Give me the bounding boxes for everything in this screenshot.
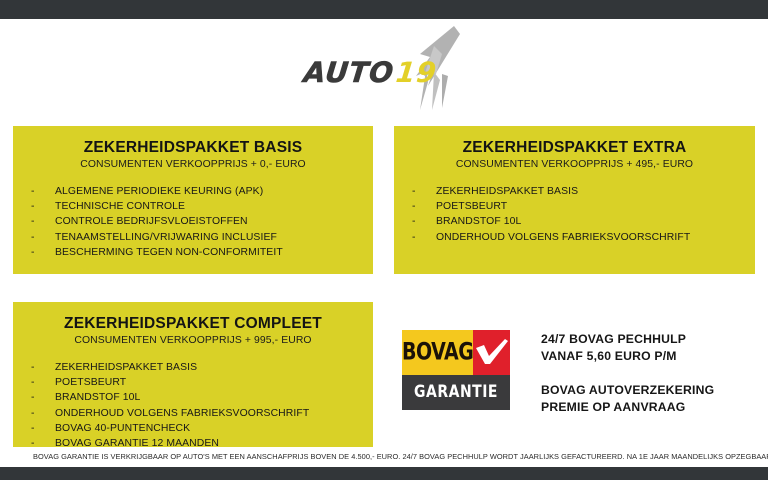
list-item: -ZEKERHEIDSPAKKET BASIS bbox=[412, 184, 755, 199]
brand-logo[interactable]: AUTO19 bbox=[304, 24, 464, 110]
checkmark-icon bbox=[475, 339, 509, 365]
list-item: -ZEKERHEIDSPAKKET BASIS bbox=[31, 360, 373, 375]
list-item: -BOVAG 40-PUNTENCHECK bbox=[31, 421, 373, 436]
bovag-subtitle-block: GARANTIE bbox=[402, 375, 510, 410]
list-item: -ONDERHOUD VOLGENS FABRIEKSVOORSCHRIFT bbox=[31, 406, 373, 421]
package-feature-list: -ZEKERHEIDSPAKKET BASIS -POETSBEURT -BRA… bbox=[13, 360, 373, 451]
bovag-logo-inner: BOVAG GARANTIE bbox=[402, 330, 510, 410]
list-item: -POETSBEURT bbox=[412, 199, 755, 214]
services-text-block: 24/7 BOVAG PECHHULP VANAF 5,60 EURO P/M … bbox=[541, 331, 756, 416]
list-item-label: ZEKERHEIDSPAKKET BASIS bbox=[436, 186, 578, 197]
bullet-dash: - bbox=[31, 214, 35, 229]
header: AUTO19 bbox=[0, 19, 768, 114]
package-feature-list: -ALGEMENE PERIODIEKE KEURING (APK) -TECH… bbox=[13, 184, 373, 260]
list-item-label: TENAAMSTELLING/VRIJWARING INCLUSIEF bbox=[55, 232, 277, 243]
bullet-dash: - bbox=[412, 230, 416, 245]
verzekering-line-2: PREMIE OP AANVRAAG bbox=[541, 399, 756, 416]
pechhulp-line-2: VANAF 5,60 EURO P/M bbox=[541, 348, 756, 365]
list-item-label: POETSBEURT bbox=[436, 201, 507, 212]
package-price: CONSUMENTEN VERKOOPPRIJS + 0,- EURO bbox=[13, 159, 373, 170]
list-item-label: BRANDSTOF 10L bbox=[436, 216, 521, 227]
list-item-label: POETSBEURT bbox=[55, 377, 126, 388]
list-item-label: BRANDSTOF 10L bbox=[55, 392, 140, 403]
list-item: -ONDERHOUD VOLGENS FABRIEKSVOORSCHRIFT bbox=[412, 230, 755, 245]
bovag-garantie-logo: BOVAG GARANTIE bbox=[399, 327, 513, 413]
list-item: -BOVAG GARANTIE 12 MAANDEN bbox=[31, 436, 373, 451]
bovag-name-block: BOVAG bbox=[402, 330, 473, 375]
bottom-letterbox-bar bbox=[0, 467, 768, 480]
list-item: -CONTROLE BEDRIJFSVLOEISTOFFEN bbox=[31, 214, 373, 229]
list-item-label: BOVAG 40-PUNTENCHECK bbox=[55, 423, 190, 434]
package-card-extra: ZEKERHEIDSPAKKET EXTRA CONSUMENTEN VERKO… bbox=[394, 126, 755, 274]
bullet-dash: - bbox=[412, 214, 416, 229]
list-item: -BESCHERMING TEGEN NON-CONFORMITEIT bbox=[31, 245, 373, 260]
pechhulp-line-1: 24/7 BOVAG PECHHULP bbox=[541, 331, 756, 348]
services-spacer bbox=[541, 365, 756, 382]
package-title: ZEKERHEIDSPAKKET BASIS bbox=[13, 139, 373, 157]
bovag-logo-top-row: BOVAG bbox=[402, 330, 510, 375]
bovag-subtitle-text: GARANTIE bbox=[414, 383, 498, 402]
bullet-dash: - bbox=[31, 406, 35, 421]
bullet-dash: - bbox=[31, 436, 35, 451]
package-card-basis: ZEKERHEIDSPAKKET BASIS CONSUMENTEN VERKO… bbox=[13, 126, 373, 274]
package-feature-list: -ZEKERHEIDSPAKKET BASIS -POETSBEURT -BRA… bbox=[394, 184, 755, 245]
bovag-check-block bbox=[473, 330, 510, 375]
bullet-dash: - bbox=[31, 360, 35, 375]
list-item-label: CONTROLE BEDRIJFSVLOEISTOFFEN bbox=[55, 216, 248, 227]
top-letterbox-bar bbox=[0, 0, 768, 19]
bullet-dash: - bbox=[31, 390, 35, 405]
bullet-dash: - bbox=[31, 375, 35, 390]
bullet-dash: - bbox=[31, 184, 35, 199]
package-title: ZEKERHEIDSPAKKET EXTRA bbox=[394, 139, 755, 157]
list-item: -POETSBEURT bbox=[31, 375, 373, 390]
verzekering-line-1: BOVAG AUTOVERZEKERING bbox=[541, 382, 756, 399]
list-item: -BRANDSTOF 10L bbox=[412, 214, 755, 229]
list-item-label: BESCHERMING TEGEN NON-CONFORMITEIT bbox=[55, 247, 283, 258]
bullet-dash: - bbox=[31, 199, 35, 214]
page-root: AUTO19 ZEKERHEIDSPAKKET BASIS CONSUMENTE… bbox=[0, 0, 768, 480]
disclaimer-text: BOVAG GARANTIE IS VERKRIJGBAAR OP AUTO'S… bbox=[33, 452, 753, 461]
list-item-label: ONDERHOUD VOLGENS FABRIEKSVOORSCHRIFT bbox=[436, 232, 690, 243]
list-item: -BRANDSTOF 10L bbox=[31, 390, 373, 405]
bullet-dash: - bbox=[412, 199, 416, 214]
logo-text-19: 19 bbox=[394, 58, 438, 88]
bullet-dash: - bbox=[31, 230, 35, 245]
package-card-compleet: ZEKERHEIDSPAKKET COMPLEET CONSUMENTEN VE… bbox=[13, 302, 373, 447]
logo-wordmark: AUTO19 bbox=[304, 58, 437, 88]
bullet-dash: - bbox=[31, 421, 35, 436]
list-item: -TECHNISCHE CONTROLE bbox=[31, 199, 373, 214]
list-item-label: ZEKERHEIDSPAKKET BASIS bbox=[55, 362, 197, 373]
list-item: -TENAAMSTELLING/VRIJWARING INCLUSIEF bbox=[31, 230, 373, 245]
logo-text-auto: AUTO bbox=[302, 58, 395, 88]
list-item-label: TECHNISCHE CONTROLE bbox=[55, 201, 185, 212]
package-price: CONSUMENTEN VERKOOPPRIJS + 495,- EURO bbox=[394, 159, 755, 170]
list-item-label: BOVAG GARANTIE 12 MAANDEN bbox=[55, 438, 219, 449]
bovag-name-text: BOVAG bbox=[402, 339, 473, 367]
package-price: CONSUMENTEN VERKOOPPRIJS + 995,- EURO bbox=[13, 335, 373, 346]
package-title: ZEKERHEIDSPAKKET COMPLEET bbox=[13, 315, 373, 333]
list-item-label: ONDERHOUD VOLGENS FABRIEKSVOORSCHRIFT bbox=[55, 408, 309, 419]
bullet-dash: - bbox=[31, 245, 35, 260]
list-item-label: ALGEMENE PERIODIEKE KEURING (APK) bbox=[55, 186, 263, 197]
bullet-dash: - bbox=[412, 184, 416, 199]
list-item: -ALGEMENE PERIODIEKE KEURING (APK) bbox=[31, 184, 373, 199]
